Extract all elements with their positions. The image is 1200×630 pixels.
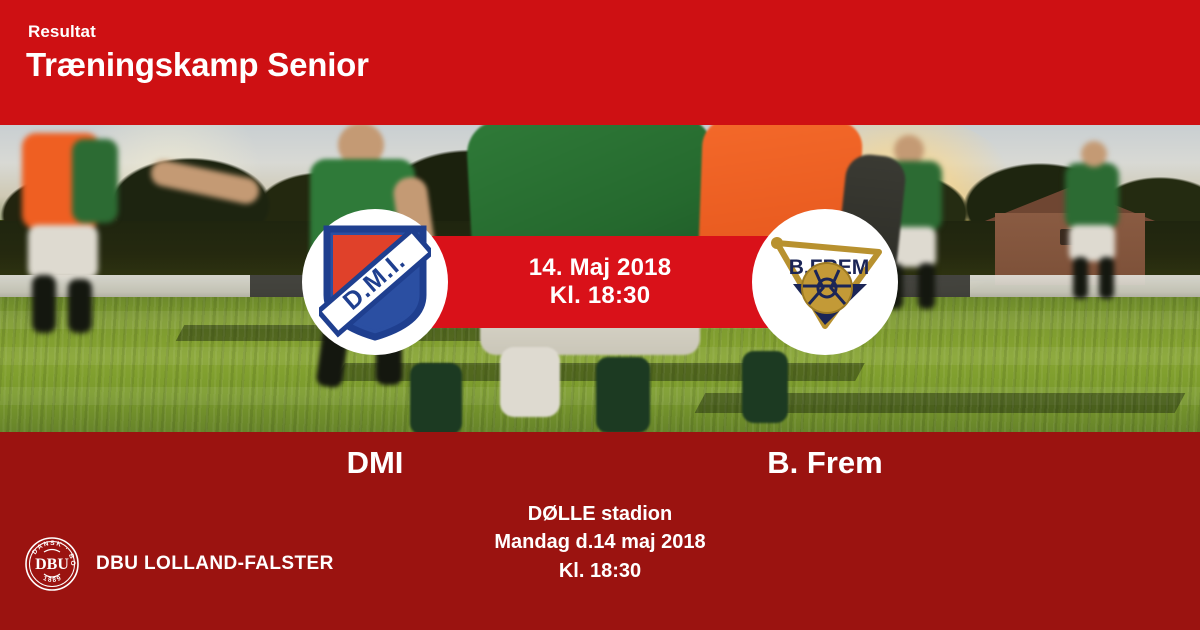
dmi-crest-icon: D.M.I. [319, 223, 431, 341]
match-date-banner: 14. Maj 2018 Kl. 18:30 [430, 236, 770, 328]
bfrem-crest-icon: B.FREM [763, 226, 887, 338]
header-kicker: Resultat [28, 22, 96, 42]
organisation-brand: DANSK · BOLDSPIL · UNION 1889 DBU DBU LO… [24, 536, 334, 592]
svg-text:1889: 1889 [42, 574, 64, 584]
venue-name: DØLLE stadion [300, 500, 900, 528]
match-time: Kl. 18:30 [550, 282, 651, 310]
away-team-name: B. Frem [450, 445, 1200, 481]
foreground-sock [596, 357, 650, 432]
page-title: Træningskamp Senior [26, 46, 369, 84]
match-kickoff-time: Kl. 18:30 [300, 557, 900, 585]
foreground-sock [742, 351, 788, 423]
away-team-crest: B.FREM [752, 209, 898, 355]
foreground-sock [410, 363, 462, 432]
match-result-poster: Resultat Træningskamp Senior [0, 0, 1200, 630]
svg-text:DBU: DBU [35, 556, 69, 573]
foreground-leg [500, 347, 560, 417]
match-details: DØLLE stadion Mandag d.14 maj 2018 Kl. 1… [300, 500, 900, 585]
organisation-name: DBU LOLLAND-FALSTER [96, 553, 334, 575]
match-day-date: Mandag d.14 maj 2018 [300, 528, 900, 556]
dbu-seal-icon: DANSK · BOLDSPIL · UNION 1889 DBU [24, 536, 80, 592]
home-team-crest: D.M.I. [302, 209, 448, 355]
poster-header: Resultat Træningskamp Senior [0, 0, 1200, 125]
match-date: 14. Maj 2018 [529, 254, 672, 282]
